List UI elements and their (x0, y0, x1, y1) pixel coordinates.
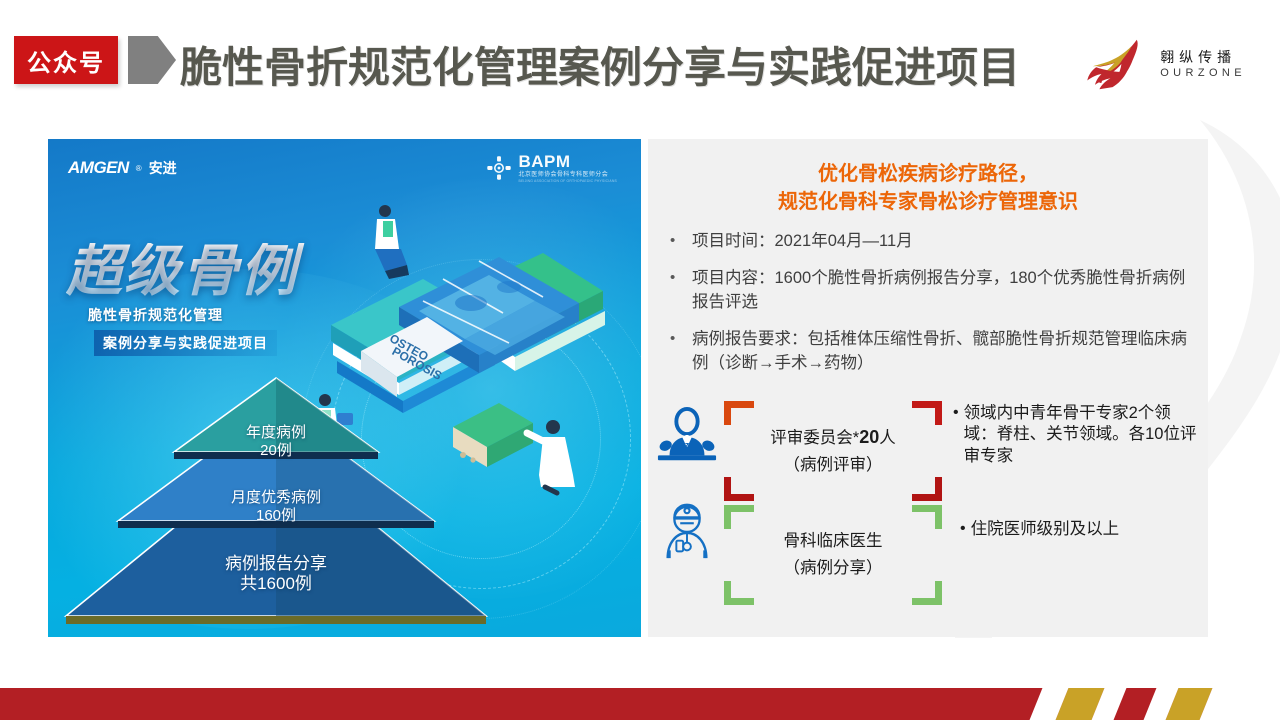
registered-trademark-icon: ® (136, 164, 142, 173)
review-committee-line-2: （病例评审） (784, 452, 883, 479)
panel-heading-line-2: 规范化骨科专家骨松诊疗管理意识 (666, 189, 1190, 217)
bullet-marker-icon: • (670, 267, 678, 315)
roles-section: z (648, 401, 1208, 637)
list-item: • 病例报告要求：包括椎体压缩性骨折、髋部脆性骨折规范管理临床病例（诊断→手术→… (670, 328, 1194, 376)
bullet-marker-icon: • (953, 403, 959, 467)
review-committee-person-icon: z (656, 405, 718, 467)
clinical-doctor-line-2: （病例分享） (784, 555, 883, 582)
logo-company-name-en: OURZONE (1160, 68, 1246, 79)
brand-logo: 翱纵传播 OURZONE (1084, 36, 1246, 92)
panel-heading: 优化骨松疾病诊疗路径， 规范化骨科专家骨松诊疗管理意识 (666, 161, 1190, 216)
footer-bar (0, 688, 1280, 720)
clinical-doctor-text: 骨科临床医生 （病例分享） (724, 505, 942, 605)
bullet-text: 项目时间：2021年04月—11月 (692, 230, 913, 254)
bullet-marker-icon: • (960, 519, 966, 540)
logo-company-name-cn: 翱纵传播 (1160, 50, 1246, 64)
bullet-text: 病例报告要求：包括椎体压缩性骨折、髋部脆性骨折规范管理临床病例（诊断→手术→药物… (692, 328, 1194, 376)
key-visual-title-block: 超级骨例 脆性骨折规范化管理 案例分享与实践促进项目 (66, 243, 386, 356)
bapm-acronym: BAPM (519, 153, 618, 170)
phoenix-icon (1084, 36, 1150, 92)
list-item: • 住院医师级别及以上 (960, 519, 1203, 540)
panel-heading-line-1: 优化骨松疾病诊疗路径， (666, 161, 1190, 189)
key-visual-subtitle-1: 脆性骨折规范化管理 (88, 305, 386, 325)
role-bracket-boxes: 评审委员会*20人 （病例评审） 骨科临床医生 （病例分享） (724, 401, 942, 606)
bullet-marker-icon: • (670, 230, 678, 254)
amgen-name-cn: 安进 (149, 158, 177, 178)
wechat-official-account-badge: 公众号 (14, 36, 118, 84)
role-notes-column: • 领域内中青年骨干专家2个领域：脊柱、关节领域。各10位评审专家 • 住院医师… (953, 403, 1203, 541)
list-item: • 项目内容：1600个脆性骨折病例报告分享，180个优秀脆性骨折病例报告评选 (670, 267, 1194, 315)
project-bullet-list: • 项目时间：2021年04月—11月 • 项目内容：1600个脆性骨折病例报告… (670, 230, 1194, 376)
bullet-marker-icon: • (670, 328, 678, 376)
key-visual-subtitle-2: 案例分享与实践促进项目 (94, 330, 277, 356)
footer-slash-gap (1200, 688, 1280, 720)
review-committee-line-1: 评审委员会*20人 (770, 423, 895, 452)
svg-text:z: z (685, 440, 690, 450)
review-committee-bracket: 评审委员会*20人 （病例评审） (724, 401, 942, 501)
project-details-panel: 优化骨松疾病诊疗路径， 规范化骨科专家骨松诊疗管理意识 • 项目时间：2021年… (648, 139, 1208, 637)
clinical-doctor-line-1: 骨科临床医生 (784, 528, 883, 555)
review-committee-text: 评审委员会*20人 （病例评审） (724, 401, 942, 501)
note-text: 领域内中青年骨干专家2个领域：脊柱、关节领域。各10位评审专家 (964, 403, 1203, 467)
role-icons-column: z (656, 405, 728, 562)
pyramid-shape (56, 376, 496, 637)
amgen-wordmark: AMGEN (68, 158, 129, 178)
note-text: 住院医师级别及以上 (971, 519, 1120, 540)
page-title: 脆性骨折规范化管理案例分享与实践促进项目 (180, 34, 1020, 95)
list-item: • 领域内中青年骨干专家2个领域：脊柱、关节领域。各10位评审专家 (953, 403, 1203, 467)
arrow-shape-icon (128, 36, 176, 84)
key-visual-main-title: 超级骨例 (66, 243, 386, 299)
page-header: 公众号 脆性骨折规范化管理案例分享与实践促进项目 翱纵传播 OURZONE (0, 0, 1280, 130)
campaign-key-visual: AMGEN ® 安进 BAPM 北京医师协会骨科专科医师分会 BEIJING A… (48, 139, 641, 637)
clinical-doctor-bracket: 骨科临床医生 （病例分享） (724, 505, 942, 605)
bullet-text: 项目内容：1600个脆性骨折病例报告分享，180个优秀脆性骨折病例报告评选 (692, 267, 1194, 315)
clinical-doctor-icon (656, 500, 718, 562)
amgen-logo: AMGEN ® 安进 (68, 158, 177, 178)
case-pyramid-diagram: 年度病例 20例 月度优秀病例 160例 病例报告分享 共1600例 (56, 376, 496, 637)
list-item: • 项目时间：2021年04月—11月 (670, 230, 1194, 254)
